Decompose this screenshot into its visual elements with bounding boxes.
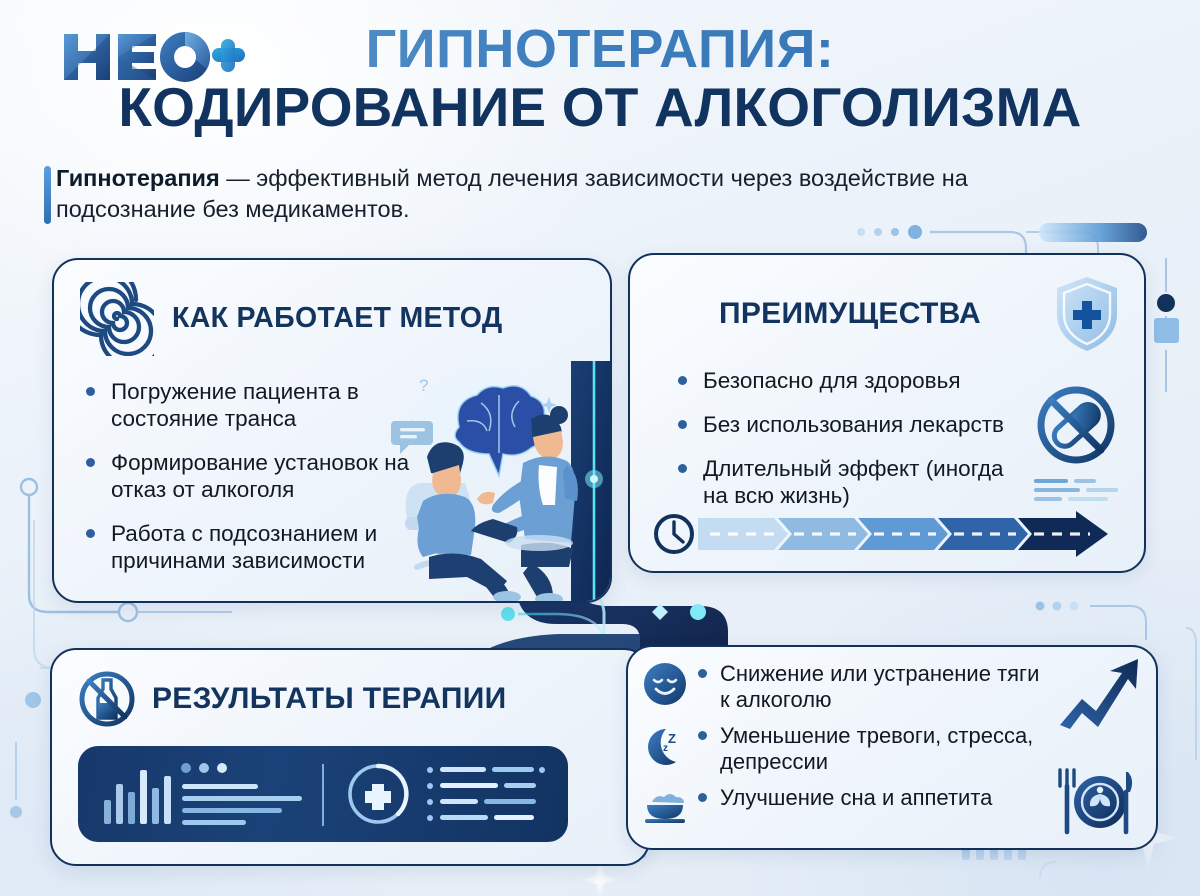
- list-item: Длительный эффект (иногда на всю жизнь): [676, 455, 1016, 509]
- results-stats-panel: [78, 746, 568, 842]
- svg-text:z: z: [663, 743, 668, 754]
- healthy-meal-plate-icon: [1050, 766, 1142, 836]
- outcome-text: Улучшение сна и аппетита: [698, 783, 992, 811]
- card-how-method-works: КАК РАБОТАЕТ МЕТОД Погружение пациента в…: [52, 258, 612, 603]
- meal-bowl-icon: [642, 785, 688, 831]
- list-item: Улучшение сна и аппетита: [642, 783, 1042, 831]
- subtitle-accent-bar: [44, 166, 51, 224]
- title-line-2: КОДИРОВАНИЕ ОТ АЛКОГОЛИЗМА: [0, 79, 1200, 136]
- subtitle-lead: Гипнотерапия: [56, 165, 220, 191]
- no-alcohol-icon: [78, 670, 136, 728]
- page-title: ГИПНОТЕРАПИЯ: КОДИРОВАНИЕ ОТ АЛКОГОЛИЗМА: [0, 22, 1200, 136]
- calm-face-icon: [642, 661, 688, 707]
- list-item: Z z Уменьшение тревоги, стресса, депресс…: [642, 721, 1042, 776]
- text-lines-decoration: [1034, 477, 1122, 509]
- svg-text:Z: Z: [668, 731, 676, 746]
- subtitle: Гипнотерапия — эффективный метод лечения…: [56, 163, 1096, 226]
- card-advantages: ПРЕИМУЩЕСТВА Безопасно для здоровья Без …: [628, 253, 1146, 573]
- advantages-bullet-list: Безопасно для здоровья Без использования…: [676, 367, 1016, 526]
- card-therapy-outcomes: Снижение или устранение тяги к алкоголю …: [626, 645, 1158, 850]
- sleep-moon-icon: Z z: [642, 723, 688, 769]
- panel-bar-chart: [104, 770, 171, 824]
- no-pill-icon: [1034, 383, 1118, 467]
- progress-timeline-arrow: [652, 511, 1130, 557]
- growth-arrow-icon: [1056, 653, 1142, 733]
- svg-text:?: ?: [419, 376, 428, 395]
- results-title: РЕЗУЛЬТАТЫ ТЕРАПИИ: [152, 682, 506, 716]
- list-item: Безопасно для здоровья: [676, 367, 1016, 394]
- card-therapy-results: РЕЗУЛЬТАТЫ ТЕРАПИИ: [50, 648, 650, 866]
- method-title: КАК РАБОТАЕТ МЕТОД: [172, 303, 503, 335]
- infographic-root: ГИПНОТЕРАПИЯ: КОДИРОВАНИЕ ОТ АЛКОГОЛИЗМА…: [0, 0, 1200, 896]
- method-header: КАК РАБОТАЕТ МЕТОД: [80, 282, 503, 356]
- outcome-text: Снижение или устранение тяги к алкоголю: [698, 659, 1042, 714]
- list-item: Без использования лекарств: [676, 411, 1016, 438]
- therapy-session-illustration: ? +: [389, 361, 612, 601]
- title-line-1: ГИПНОТЕРАПИЯ:: [0, 22, 1200, 77]
- list-item: Снижение или устранение тяги к алкоголю: [642, 659, 1042, 714]
- outcomes-list: Снижение или устранение тяги к алкоголю …: [642, 659, 1042, 838]
- results-header: РЕЗУЛЬТАТЫ ТЕРАПИИ: [78, 670, 506, 728]
- hypnosis-spiral-icon: [80, 282, 154, 356]
- shield-plus-icon: [1054, 275, 1120, 353]
- outcome-text: Уменьшение тревоги, стресса, депрессии: [698, 721, 1042, 776]
